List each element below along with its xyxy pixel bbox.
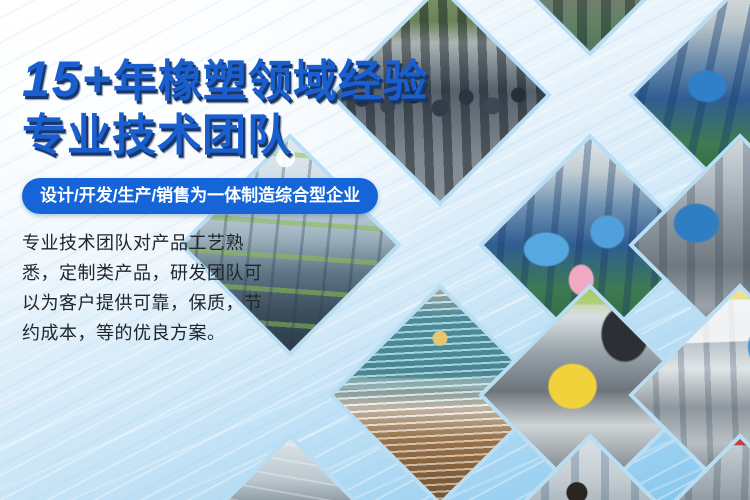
headline-line-1: 15+年橡塑领域经验: [22, 52, 428, 109]
headline-line-1-text: 年橡塑领域经验: [113, 57, 428, 106]
photo-lab-tester-image: [484, 439, 696, 500]
photo-meeting-room: [184, 439, 396, 500]
photo-lab-tester: [484, 439, 696, 500]
photo-meeting-room-image: [184, 439, 396, 500]
headline-line-2: 专业技术团队: [22, 109, 428, 163]
photo-machine-shop: [484, 0, 696, 51]
promo-banner: 15+年橡塑领域经验 专业技术团队 设计/开发/生产/销售为一体制造综合型企业 …: [0, 0, 750, 500]
body-paragraph: 专业技术团队对产品工艺熟悉，定制类产品，研发团队可以为客户提供可靠，保质，节约成…: [22, 228, 280, 348]
photo-machine-shop-image: [484, 0, 696, 51]
headline-block: 15+年橡塑领域经验 专业技术团队: [22, 52, 428, 163]
years-number: 15+: [22, 51, 113, 107]
subtitle-badge: 设计/开发/生产/销售为一体制造综合型企业: [22, 178, 378, 214]
